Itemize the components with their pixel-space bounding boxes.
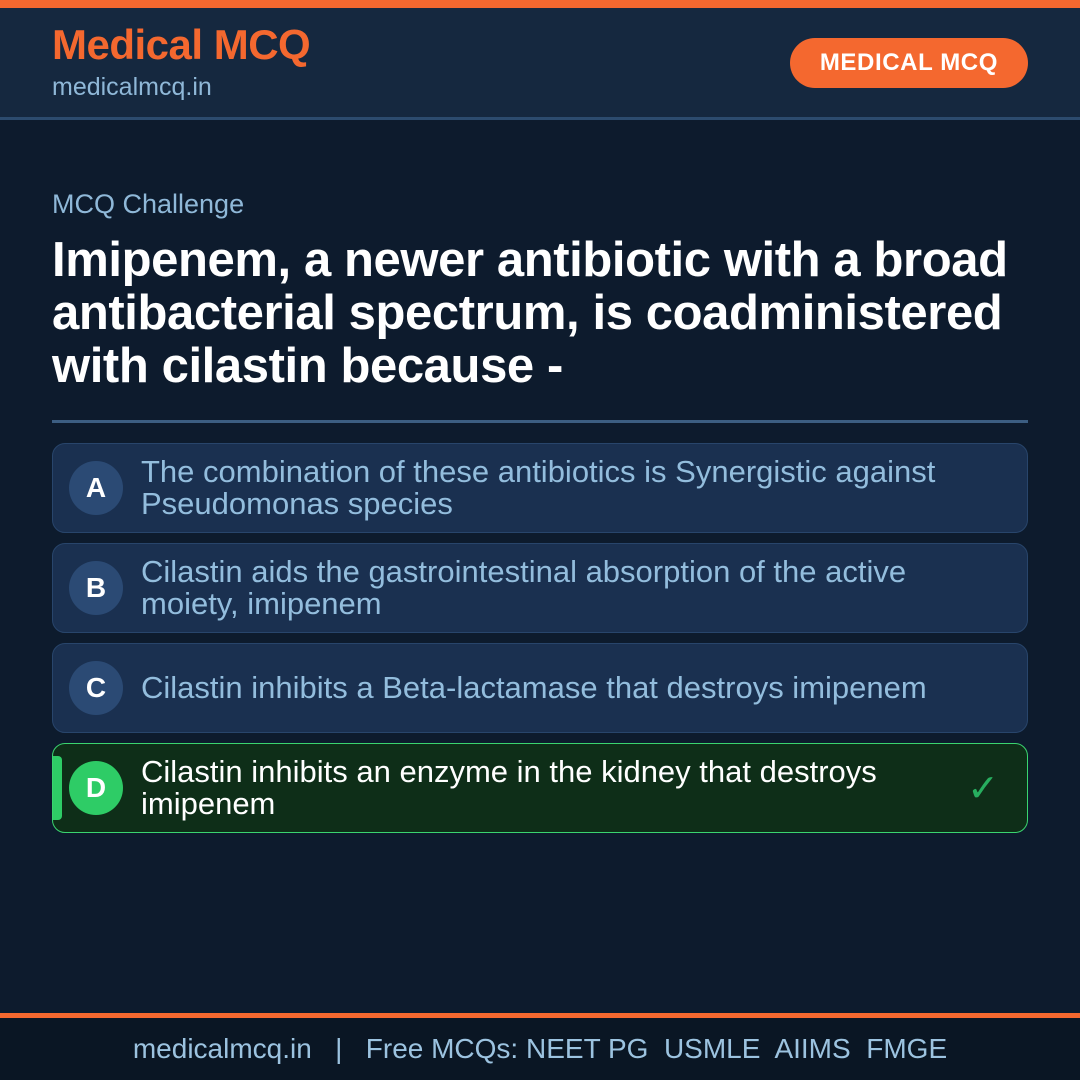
option-text-b: Cilastin aids the gastrointestinal absor… [141, 556, 961, 622]
option-letter-c: C [69, 661, 123, 715]
option-text-c: Cilastin inhibits a Beta-lactamase that … [141, 672, 961, 705]
header-bar: Medical MCQ medicalmcq.in MEDICAL MCQ [0, 8, 1080, 120]
options-list: A The combination of these antibiotics i… [52, 443, 1028, 833]
footer-bar: medicalmcq.in | Free MCQs: NEET PG USMLE… [0, 1018, 1080, 1080]
main-content: MCQ Challenge Imipenem, a newer antibiot… [0, 120, 1080, 1013]
correct-accent-bar [53, 756, 62, 820]
brand-subtitle: medicalmcq.in [52, 74, 310, 102]
brand-block: Medical MCQ medicalmcq.in [52, 24, 310, 102]
option-d[interactable]: D Cilastin inhibits an enzyme in the kid… [52, 743, 1028, 833]
check-icon-d: ✓ [961, 766, 1005, 811]
header-badge: MEDICAL MCQ [790, 38, 1028, 88]
option-a[interactable]: A The combination of these antibiotics i… [52, 443, 1028, 533]
mcq-card: Medical MCQ medicalmcq.in MEDICAL MCQ MC… [0, 0, 1080, 1080]
option-text-a: The combination of these antibiotics is … [141, 456, 961, 522]
brand-title: Medical MCQ [52, 24, 310, 66]
eyebrow-label: MCQ Challenge [52, 190, 1028, 220]
footer-wrap: medicalmcq.in | Free MCQs: NEET PG USMLE… [0, 1013, 1080, 1080]
option-text-d: Cilastin inhibits an enzyme in the kidne… [141, 756, 961, 822]
option-c[interactable]: C Cilastin inhibits a Beta-lactamase tha… [52, 643, 1028, 733]
top-accent-rule [0, 0, 1080, 8]
option-letter-a: A [69, 461, 123, 515]
option-letter-b: B [69, 561, 123, 615]
option-b[interactable]: B Cilastin aids the gastrointestinal abs… [52, 543, 1028, 633]
section-divider [52, 420, 1028, 423]
footer-text: medicalmcq.in | Free MCQs: NEET PG USMLE… [133, 1035, 947, 1063]
option-letter-d: D [69, 761, 123, 815]
question-text: Imipenem, a newer antibiotic with a broa… [52, 234, 1028, 393]
